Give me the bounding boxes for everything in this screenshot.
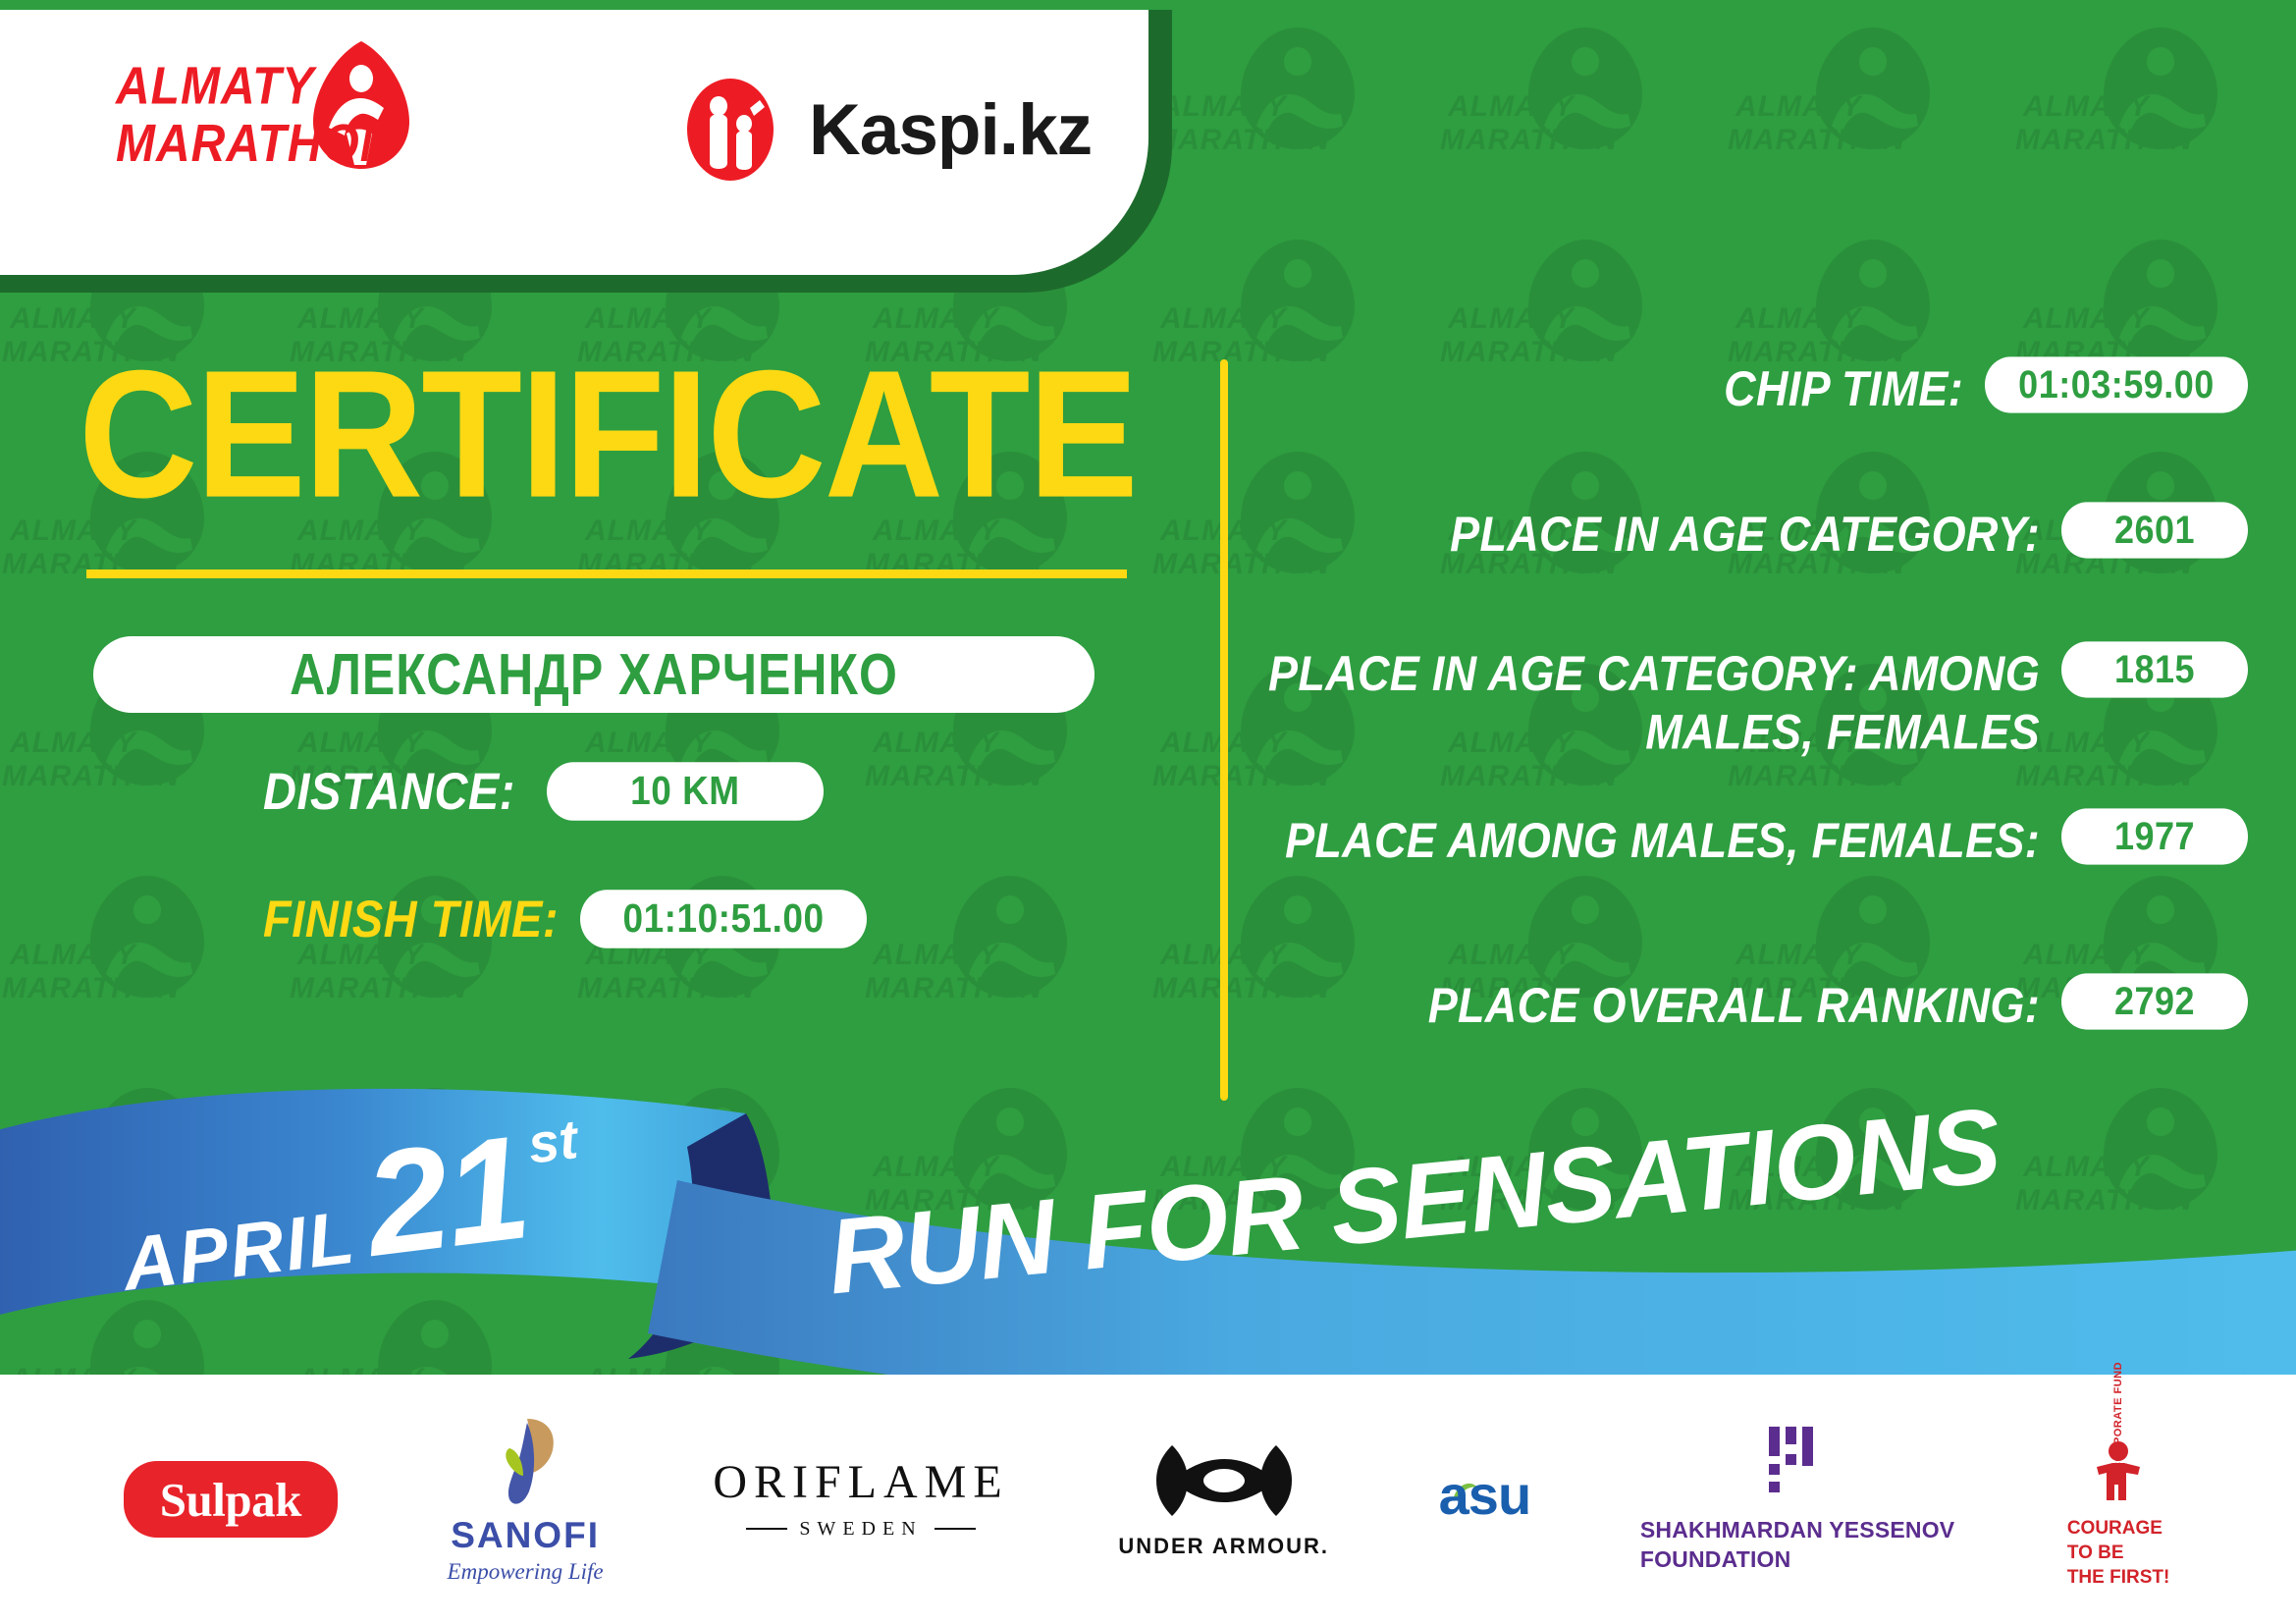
almaty-logo-line1: ALMATY <box>116 59 395 116</box>
column-divider <box>1220 359 1228 1101</box>
oriflame-rule-right <box>934 1528 976 1530</box>
corporate-fund-rotated-label: CORPORATE FUND <box>2112 1361 2124 1469</box>
sanofi-tagline: Empowering Life <box>448 1559 604 1585</box>
stat-place-among-males-females-label: PLACE AMONG MALES, FEMALES: <box>1266 811 2061 869</box>
sponsor-yessenov-foundation: SHAKHMARDAN YESSENOV FOUNDATION <box>1640 1425 1955 1574</box>
ribbon-day: 21 <box>358 1118 533 1272</box>
stat-place-overall-ranking-label: PLACE OVERALL RANKING: <box>1266 976 2061 1034</box>
corporate-fund-line1: COURAGE <box>2067 1516 2170 1541</box>
sponsor-under-armour: UNDER ARMOUR. <box>1118 1439 1329 1559</box>
oriflame-tagline: SWEDEN <box>799 1518 922 1541</box>
yessenov-line2: FOUNDATION <box>1640 1544 1955 1574</box>
sanofi-mark-icon <box>480 1415 570 1513</box>
sanofi-wordmark: SANOFI <box>451 1517 600 1553</box>
sulpak-logo: Sulpak <box>124 1461 338 1538</box>
sponsor-sanofi: SANOFI Empowering Life <box>448 1415 604 1585</box>
corporate-fund-line3: THE FIRST! <box>2067 1565 2170 1590</box>
title-underline <box>86 569 1127 578</box>
stat-chip-time-label: CHIP TIME: <box>1266 359 1985 417</box>
stat-finish-time-label: FINISH TIME: <box>263 889 559 949</box>
participant-name-field: АЛЕКСАНДР ХАРЧЕНКО <box>93 636 1095 713</box>
stat-place-age-category-among-label: PLACE IN AGE CATEGORY: AMONG MALES, FEMA… <box>1266 644 2061 761</box>
sponsor-oriflame: ORIFLAME SWEDEN <box>713 1459 1008 1541</box>
almaty-logo-line2: MARATHON <box>116 116 395 173</box>
stat-finish-time-value: 01:10:51.00 <box>580 890 867 947</box>
top-green-strip <box>0 0 2296 10</box>
yessenov-bars-icon <box>1767 1425 1828 1497</box>
ribbon-day-suffix: st <box>524 1107 580 1176</box>
sponsor-strip: Sulpak SANOFI Empowering Life ORIFLAME S… <box>0 1375 2296 1624</box>
stat-place-among-males-females-value: 1977 <box>2061 808 2248 864</box>
sulpak-wordmark: Sulpak <box>160 1476 301 1524</box>
yessenov-wordmark: SHAKHMARDAN YESSENOV FOUNDATION <box>1640 1515 1955 1574</box>
stat-chip-time-value: 01:03:59.00 <box>1985 356 2248 412</box>
stat-place-overall-ranking: PLACE OVERALL RANKING: 2792 <box>1266 976 2248 1028</box>
sponsor-corporate-fund: CORPORATE FUND COURAGE TO BE THE FIRST! <box>2064 1410 2172 1590</box>
stat-place-age-category-label: PLACE IN AGE CATEGORY: <box>1266 505 2061 563</box>
stat-chip-time: CHIP TIME: 01:03:59.00 <box>1266 359 2248 411</box>
stat-distance: DISTANCE: 10 KM <box>263 764 824 818</box>
corporate-fund-wordmark: COURAGE TO BE THE FIRST! <box>2067 1516 2170 1590</box>
kaspi-wordmark: Kaspi.kz <box>809 94 1092 166</box>
stat-distance-label: DISTANCE: <box>263 761 515 822</box>
participant-name: АЛЕКСАНДР ХАРЧЕНКО <box>290 641 898 708</box>
page-title: CERTIFICATE <box>79 344 1137 525</box>
under-armour-icon <box>1150 1439 1298 1526</box>
sponsor-sulpak: Sulpak <box>124 1461 338 1538</box>
stat-place-among-males-females: PLACE AMONG MALES, FEMALES: 1977 <box>1266 811 2248 863</box>
stat-place-age-category-among: PLACE IN AGE CATEGORY: AMONG MALES, FEMA… <box>1266 644 2248 748</box>
certificate-canvas: ALMATY MARATHON ALMATY MARATHON <box>0 0 2296 1624</box>
stat-place-age-category-among-value: 1815 <box>2061 641 2248 697</box>
corporate-fund-line2: TO BE <box>2067 1541 2170 1565</box>
kaspi-logo: Kaspi.kz <box>677 77 1092 183</box>
stat-place-overall-ranking-value: 2792 <box>2061 973 2248 1029</box>
under-armour-wordmark: UNDER ARMOUR. <box>1118 1534 1329 1559</box>
oriflame-wordmark: ORIFLAME <box>713 1459 1008 1506</box>
almaty-marathon-wordmark: ALMATY MARATHON <box>116 59 395 173</box>
asu-wordmark: asu <box>1439 1468 1531 1523</box>
oriflame-rule-left <box>746 1528 787 1530</box>
sponsor-asu: asu <box>1439 1476 1531 1523</box>
stat-place-age-category-value: 2601 <box>2061 502 2248 558</box>
yessenov-line1: SHAKHMARDAN YESSENOV <box>1640 1515 1955 1544</box>
almaty-marathon-logo: ALMATY MARATHON <box>116 47 440 180</box>
stat-finish-time: FINISH TIME: 01:10:51.00 <box>263 892 867 946</box>
kaspi-people-icon <box>677 77 783 183</box>
stat-distance-value: 10 KM <box>547 762 824 820</box>
oriflame-sub: SWEDEN <box>746 1518 975 1541</box>
stat-place-age-category: PLACE IN AGE CATEGORY: 2601 <box>1266 505 2248 557</box>
